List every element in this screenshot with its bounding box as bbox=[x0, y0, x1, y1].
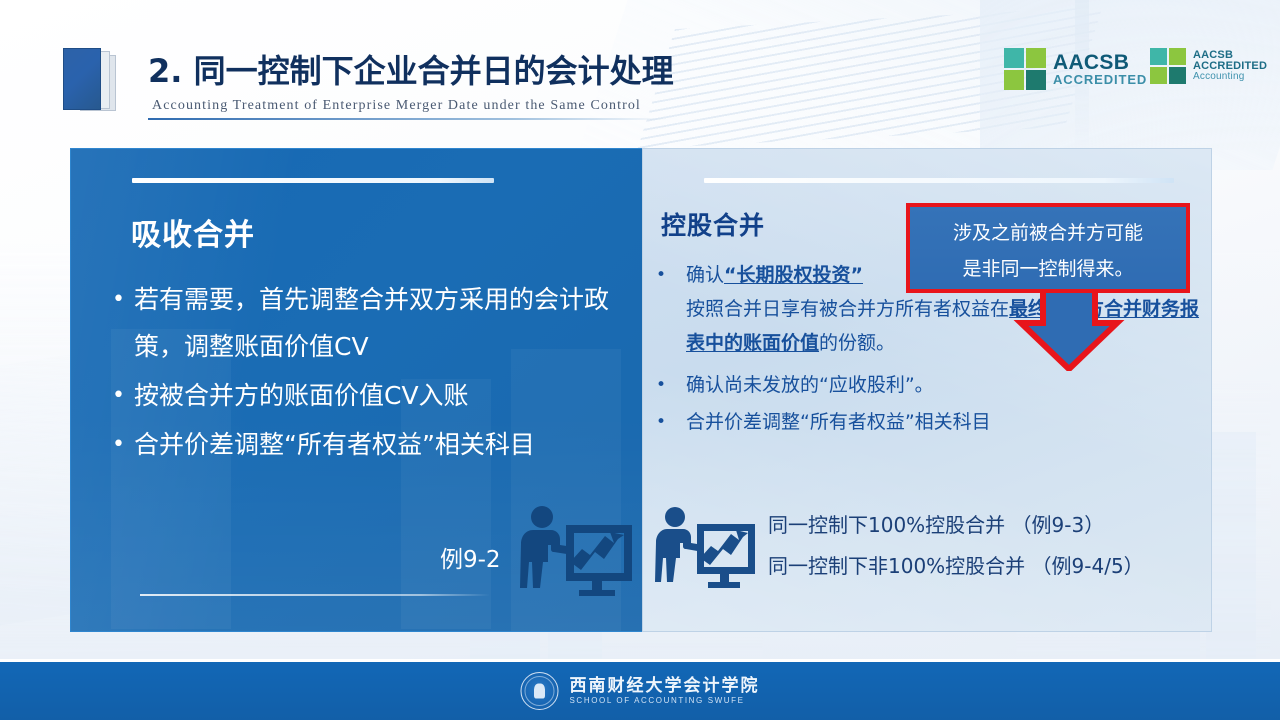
callout-note: 涉及之前被合并方可能 是非同一控制得来。 bbox=[906, 203, 1190, 293]
book-stack-icon bbox=[58, 46, 126, 112]
presenter-chart-icon bbox=[652, 500, 756, 592]
bullet-segment-plain: 按照合并日享有被合并方所有者权益在 bbox=[686, 298, 1009, 320]
university-seal-icon bbox=[521, 672, 559, 710]
page-subtitle: Accounting Treatment of Enterprise Merge… bbox=[152, 98, 641, 114]
bullet-marker: • bbox=[656, 368, 686, 402]
bullet-segment-emphasis: “长期股权投资” bbox=[724, 264, 863, 286]
list-item: • 确认尚未发放的“应收股利”。 bbox=[656, 368, 1206, 402]
bullet-marker: • bbox=[112, 421, 134, 468]
bullet-marker: • bbox=[112, 372, 134, 419]
right-panel-top-rule bbox=[704, 178, 1174, 183]
bullet-marker: • bbox=[656, 258, 686, 292]
aacsb-accounting-discipline: Accounting bbox=[1193, 72, 1267, 82]
slide-canvas: 2. 同一控制下企业合并日的会计处理 Accounting Treatment … bbox=[0, 0, 1280, 720]
list-item: • 若有需要，首先调整合并双方采用的会计政策，调整账面价值CV bbox=[112, 276, 612, 370]
left-example-label: 例9-2 bbox=[440, 540, 501, 574]
presenter-chart-icon bbox=[516, 498, 634, 598]
bullet-segment-plain: 的份额。 bbox=[819, 332, 895, 354]
bullet-text: 合并价差调整“所有者权益”相关科目 bbox=[686, 405, 1206, 439]
callout-line-1: 涉及之前被合并方可能 bbox=[910, 215, 1186, 251]
bullet-marker: • bbox=[112, 276, 134, 323]
slide-footer: 西南财经大学会计学院 SCHOOL OF ACCOUNTING SWUFE bbox=[0, 662, 1280, 720]
right-example-list: 同一控制下100%控股合并 （例9-3） 同一控制下非100%控股合并 （例9-… bbox=[768, 505, 1198, 587]
list-item: 同一控制下100%控股合并 （例9-3） bbox=[768, 505, 1198, 546]
aacsb-accounting-logo: AACSB ACCREDITED Accounting bbox=[1150, 48, 1267, 84]
bullet-text: 按被合并方的账面价值CV入账 bbox=[134, 372, 612, 419]
down-arrow-icon bbox=[1013, 289, 1125, 371]
institution-name-cn: 西南财经大学会计学院 bbox=[570, 677, 760, 697]
bullet-text: 确认尚未发放的“应收股利”。 bbox=[686, 368, 1206, 402]
aacsb-accounting-mark-icon bbox=[1150, 48, 1186, 84]
aacsb-accredited-logo: AACSB ACCREDITED bbox=[1004, 48, 1147, 90]
page-title: 2. 同一控制下企业合并日的会计处理 bbox=[148, 46, 674, 92]
title-underline bbox=[148, 118, 668, 120]
callout-line-2: 是非同一控制得来。 bbox=[910, 251, 1186, 287]
list-item: 同一控制下非100%控股合并 （例9-4/5） bbox=[768, 546, 1198, 587]
list-item: • 合并价差调整“所有者权益”相关科目 bbox=[656, 405, 1206, 439]
aacsb-name: AACSB bbox=[1053, 52, 1147, 73]
list-item: • 按被合并方的账面价值CV入账 bbox=[112, 372, 612, 419]
bullet-segment-plain: 确认 bbox=[686, 264, 724, 286]
aacsb-mark-icon bbox=[1004, 48, 1046, 90]
left-panel-bullet-list: • 若有需要，首先调整合并双方采用的会计政策，调整账面价值CV • 按被合并方的… bbox=[112, 276, 612, 470]
right-panel-heading: 控股合并 bbox=[661, 206, 765, 242]
bullet-marker: • bbox=[656, 405, 686, 439]
bullet-text: 若有需要，首先调整合并双方采用的会计政策，调整账面价值CV bbox=[134, 276, 612, 370]
left-panel-heading: 吸收合并 bbox=[131, 210, 255, 254]
list-item: • 合并价差调整“所有者权益”相关科目 bbox=[112, 421, 612, 468]
left-panel-top-rule bbox=[132, 178, 494, 183]
left-panel-bottom-rule bbox=[140, 594, 490, 596]
bullet-text: 合并价差调整“所有者权益”相关科目 bbox=[134, 421, 612, 468]
institution-name-en: SCHOOL OF ACCOUNTING SWUFE bbox=[570, 696, 760, 705]
aacsb-status: ACCREDITED bbox=[1053, 73, 1147, 86]
